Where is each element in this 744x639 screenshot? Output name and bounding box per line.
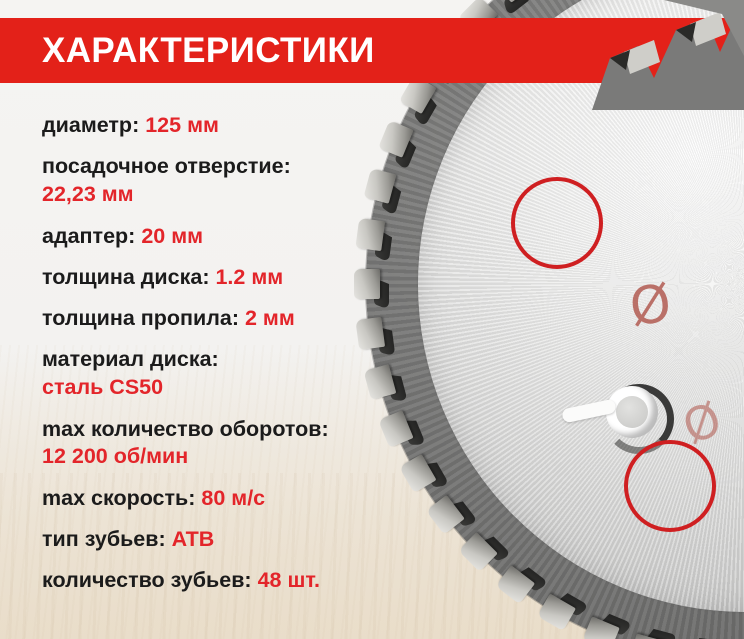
tooth-callout-circle xyxy=(511,177,603,269)
spec-row: посадочное отверстие:22,23 мм xyxy=(42,153,442,209)
spec-row: адаптер: 20 мм xyxy=(42,223,442,251)
spec-label: max скорость: xyxy=(42,486,195,510)
spec-label: толщина диска: xyxy=(42,265,209,289)
spec-value: 2 мм xyxy=(245,306,295,330)
spec-row: max количество оборотов:12 200 об/мин xyxy=(42,416,442,472)
specifications-list: диаметр: 125 ммпосадочное отверстие:22,2… xyxy=(42,112,442,608)
spec-value: 80 м/с xyxy=(201,486,265,510)
spec-label: адаптер: xyxy=(42,224,135,248)
header-banner: ХАРАКТЕРИСТИКИ xyxy=(0,18,744,83)
spec-label: max количество оборотов: xyxy=(42,417,329,441)
spec-value: 1.2 мм xyxy=(215,265,283,289)
diameter-stamp-icon: Ø xyxy=(626,273,675,338)
spec-value: 125 мм xyxy=(145,113,219,137)
spec-label: диаметр: xyxy=(42,113,139,137)
spec-row: количество зубьев: 48 шт. xyxy=(42,567,442,595)
spec-label: количество зубьев: xyxy=(42,568,252,592)
spec-row: тип зубьев: ATB xyxy=(42,526,442,554)
spec-row: max скорость: 80 м/с xyxy=(42,485,442,513)
spec-label: материал диска: xyxy=(42,347,219,371)
spec-label: тип зубьев: xyxy=(42,527,166,551)
spec-value: 12 200 об/мин xyxy=(42,443,442,471)
spec-row: материал диска:сталь CS50 xyxy=(42,346,442,402)
spec-value: сталь CS50 xyxy=(42,374,442,402)
spec-value: 20 мм xyxy=(141,224,203,248)
expansion-slot-callout-circle xyxy=(624,440,716,532)
spec-label: посадочное отверстие: xyxy=(42,154,291,178)
expansion-slot xyxy=(606,386,658,438)
spec-row: толщина пропила: 2 мм xyxy=(42,305,442,333)
product-spec-card: Ø Ø ХАРАКТЕРИСТИКИ диаметр: 125 ммпосадо… xyxy=(0,0,744,639)
spec-value: ATB xyxy=(172,527,215,551)
spec-row: толщина диска: 1.2 мм xyxy=(42,264,442,292)
spec-label: толщина пропила: xyxy=(42,306,239,330)
spec-row: диаметр: 125 мм xyxy=(42,112,442,140)
spec-value: 48 шт. xyxy=(258,568,320,592)
page-title: ХАРАКТЕРИСТИКИ xyxy=(42,33,375,68)
spec-value: 22,23 мм xyxy=(42,181,442,209)
